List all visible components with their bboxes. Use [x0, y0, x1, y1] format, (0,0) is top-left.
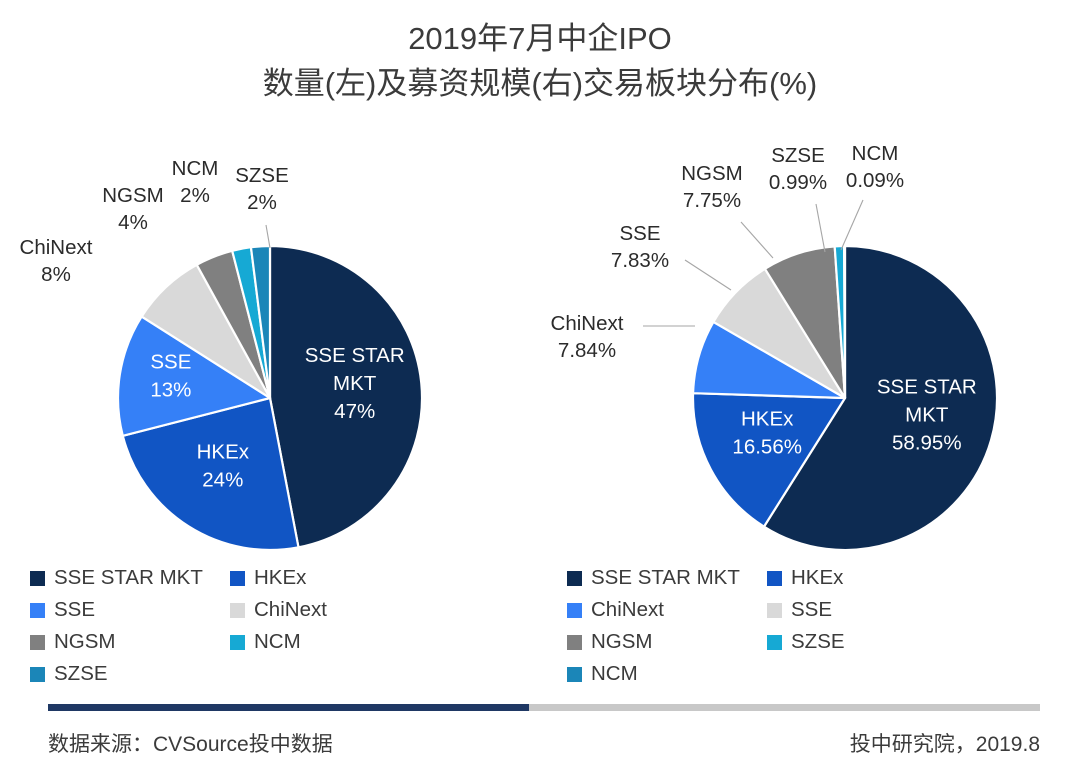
- legend-item-chinext[interactable]: ChiNext: [567, 594, 767, 626]
- legend-swatch-icon: [30, 667, 45, 682]
- legend-swatch-icon: [230, 635, 245, 650]
- slice-label-chinext: ChiNext7.84%: [551, 312, 624, 362]
- leader-line-szse: [266, 225, 270, 248]
- legend-swatch-icon: [767, 635, 782, 650]
- leader-line-szse: [816, 204, 825, 252]
- pie-chart-ipo-count: SSE STARMKT47%HKEx24%SSE13%ChiNext8%NGSM…: [8, 130, 528, 560]
- legend-swatch-icon: [567, 603, 582, 618]
- leader-line-ngsm: [741, 222, 773, 258]
- legend-item-label: ChiNext: [591, 599, 664, 621]
- legend-item-label: SSE: [791, 599, 832, 621]
- legend-item-label: SSE STAR MKT: [54, 567, 203, 589]
- leader-line-ncm: [841, 200, 863, 250]
- legend-item-label: NCM: [254, 631, 301, 653]
- charts-area: SSE STARMKT47%HKEx24%SSE13%ChiNext8%NGSM…: [0, 130, 1080, 690]
- legend-item-sse-star-mkt[interactable]: SSE STAR MKT: [30, 562, 230, 594]
- slice-label-szse: SZSE0.99%: [769, 144, 827, 194]
- legend-swatch-icon: [30, 635, 45, 650]
- legend-swatch-icon: [567, 571, 582, 586]
- pie-slice-sse-star-mkt[interactable]: [270, 246, 422, 547]
- footer-divider: [48, 704, 1040, 711]
- legend-swatch-icon: [767, 603, 782, 618]
- page-title-line-2: 数量(左)及募资规模(右)交易板块分布(%): [0, 61, 1080, 106]
- legend-item-label: NCM: [591, 663, 638, 685]
- legend-item-label: SSE: [54, 599, 95, 621]
- pie-chart-ipo-proceeds: SSE STARMKT58.95%HKEx16.56%ChiNext7.84%S…: [545, 130, 1065, 560]
- pie-chart-panel-count: SSE STARMKT47%HKEx24%SSE13%ChiNext8%NGSM…: [8, 130, 528, 690]
- legend-item-hkex[interactable]: HKEx: [767, 562, 967, 594]
- footer: 数据来源：CVSource投中数据 投中研究院，2019.8: [48, 690, 1040, 782]
- legend-item-label: HKEx: [791, 567, 843, 589]
- slice-label-ngsm: NGSM7.75%: [681, 162, 743, 212]
- legend-item-ncm[interactable]: NCM: [567, 658, 767, 690]
- legend-swatch-icon: [767, 571, 782, 586]
- legend-item-szse[interactable]: SZSE: [767, 626, 967, 658]
- legend-ipo-count: SSE STAR MKTHKExSSEChiNextNGSMNCMSZSE: [30, 562, 430, 690]
- legend-item-label: SZSE: [791, 631, 845, 653]
- footer-source-text: 数据来源：CVSource投中数据: [48, 728, 333, 758]
- slice-label-szse: SZSE2%: [235, 164, 289, 214]
- slice-label-ncm: NCM2%: [172, 157, 219, 207]
- page-title-line-1: 2019年7月中企IPO: [0, 16, 1080, 61]
- legend-item-chinext[interactable]: ChiNext: [230, 594, 430, 626]
- legend-item-ngsm[interactable]: NGSM: [567, 626, 767, 658]
- legend-item-label: SSE STAR MKT: [591, 567, 740, 589]
- footer-divider-dark: [48, 704, 529, 711]
- legend-item-szse[interactable]: SZSE: [30, 658, 230, 690]
- legend-item-label: ChiNext: [254, 599, 327, 621]
- legend-swatch-icon: [567, 667, 582, 682]
- legend-swatch-icon: [30, 603, 45, 618]
- leader-line-sse: [685, 260, 731, 290]
- page-title: 2019年7月中企IPO 数量(左)及募资规模(右)交易板块分布(%): [0, 16, 1080, 106]
- legend-swatch-icon: [230, 603, 245, 618]
- legend-item-label: NGSM: [591, 631, 653, 653]
- legend-item-ncm[interactable]: NCM: [230, 626, 430, 658]
- footer-publisher-text: 投中研究院，2019.8: [850, 728, 1040, 758]
- legend-item-sse[interactable]: SSE: [30, 594, 230, 626]
- pie-chart-panel-proceeds: SSE STARMKT58.95%HKEx16.56%ChiNext7.84%S…: [545, 130, 1065, 690]
- slice-label-ngsm: NGSM4%: [102, 184, 164, 234]
- footer-divider-light: [529, 704, 1040, 711]
- legend-item-label: HKEx: [254, 567, 306, 589]
- slice-label-sse: SSE7.83%: [611, 222, 669, 272]
- slice-label-ncm: NCM0.09%: [846, 142, 904, 192]
- legend-swatch-icon: [230, 571, 245, 586]
- legend-item-sse-star-mkt[interactable]: SSE STAR MKT: [567, 562, 767, 594]
- legend-item-hkex[interactable]: HKEx: [230, 562, 430, 594]
- legend-swatch-icon: [30, 571, 45, 586]
- legend-ipo-proceeds: SSE STAR MKTHKExChiNextSSENGSMSZSENCM: [567, 562, 967, 690]
- slice-label-chinext: ChiNext8%: [20, 236, 93, 286]
- legend-swatch-icon: [567, 635, 582, 650]
- legend-item-sse[interactable]: SSE: [767, 594, 967, 626]
- legend-item-ngsm[interactable]: NGSM: [30, 626, 230, 658]
- pie-slice-ncm[interactable]: [844, 246, 845, 398]
- legend-item-label: NGSM: [54, 631, 116, 653]
- legend-item-label: SZSE: [54, 663, 108, 685]
